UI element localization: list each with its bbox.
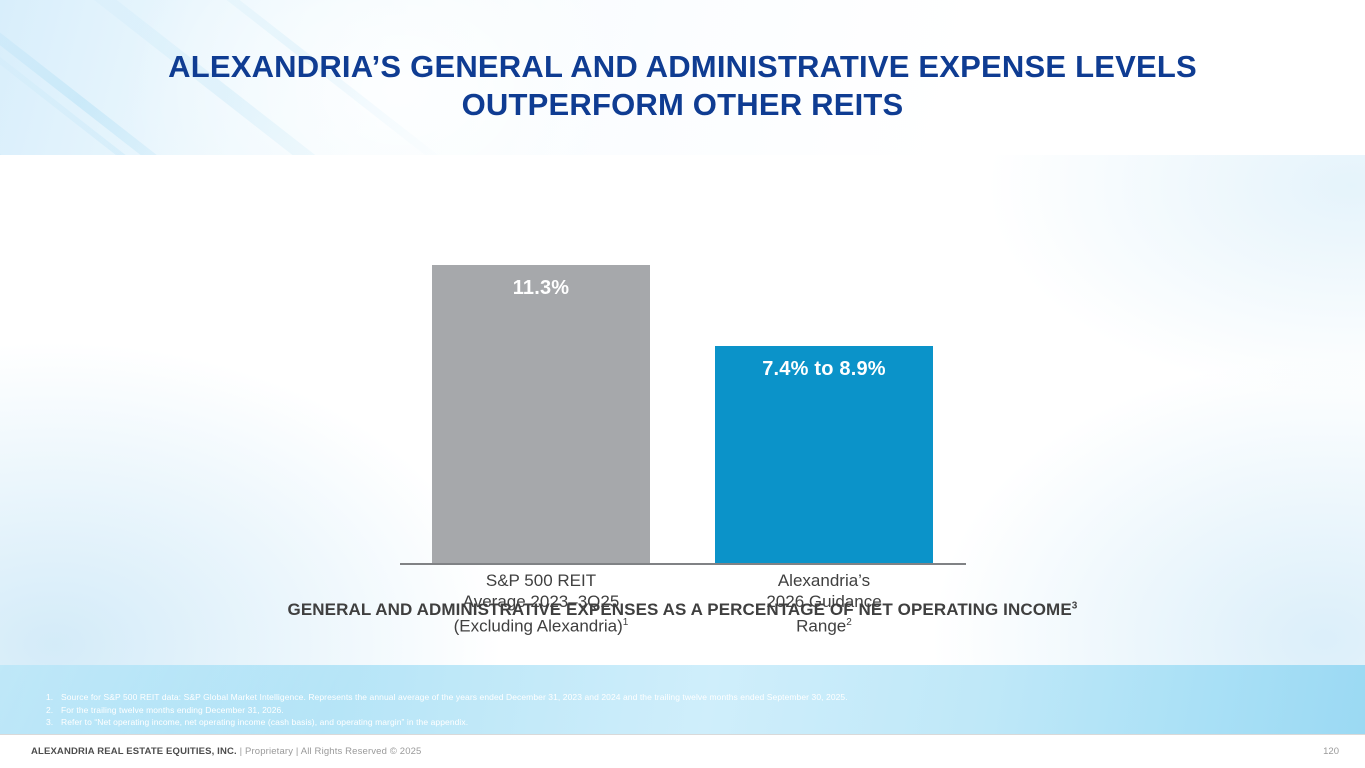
footnote-text: For the trailing twelve months ending De… <box>61 704 1146 717</box>
slide: ALEXANDRIA’S GENERAL AND ADMINISTRATIVE … <box>0 0 1365 768</box>
bar-sp500-reit-average[interactable]: 11.3% <box>432 265 650 563</box>
footnote-item: 2. For the trailing twelve months ending… <box>46 704 1146 717</box>
footnote-text: Source for S&P 500 REIT data: S&P Global… <box>61 691 1146 704</box>
page-number: 120 <box>1323 746 1339 757</box>
page-title: ALEXANDRIA’S GENERAL AND ADMINISTRATIVE … <box>0 48 1365 124</box>
bar-chart: 11.3% 7.4% to 8.9% S&P 500 REIT Average … <box>400 210 966 566</box>
footnote-item: 1. Source for S&P 500 REIT data: S&P Glo… <box>46 691 1146 704</box>
footnote-item: 3. Refer to “Net operating income, net o… <box>46 716 1146 729</box>
footnote-number: 2. <box>46 704 61 717</box>
footer-rights-text: | Proprietary | All Rights Reserved © 20… <box>237 746 422 757</box>
slide-body: 11.3% 7.4% to 8.9% S&P 500 REIT Average … <box>0 155 1365 665</box>
chart-subtitle: GENERAL AND ADMINISTRATIVE EXPENSES AS A… <box>0 600 1365 620</box>
chart-axis-line <box>400 563 966 565</box>
footnote-number: 3. <box>46 716 61 729</box>
footnote-list: 1. Source for S&P 500 REIT data: S&P Glo… <box>46 691 1146 729</box>
footnote-text: Refer to “Net operating income, net oper… <box>61 716 1146 729</box>
footnote-number: 1. <box>46 691 61 704</box>
slide-header: ALEXANDRIA’S GENERAL AND ADMINISTRATIVE … <box>0 0 1365 155</box>
chart-subtitle-text: GENERAL AND ADMINISTRATIVE EXPENSES AS A… <box>288 600 1072 619</box>
footer-company-name: ALEXANDRIA REAL ESTATE EQUITIES, INC. <box>31 746 237 757</box>
footer-attribution: ALEXANDRIA REAL ESTATE EQUITIES, INC. | … <box>31 746 422 757</box>
footnote-marker-3: 3 <box>1072 600 1078 611</box>
bar-value-label-alexandria: 7.4% to 8.9% <box>715 358 933 381</box>
slide-footer: ALEXANDRIA REAL ESTATE EQUITIES, INC. | … <box>0 734 1365 768</box>
category-line: S&P 500 REIT <box>432 570 650 591</box>
bar-value-label-sp500: 11.3% <box>432 277 650 300</box>
footnote-band: 1. Source for S&P 500 REIT data: S&P Glo… <box>0 665 1365 734</box>
category-line: Alexandria’s <box>715 570 933 591</box>
chart-plot-area: 11.3% 7.4% to 8.9% <box>400 210 966 565</box>
bar-alexandria-2026-guidance[interactable]: 7.4% to 8.9% <box>715 346 933 563</box>
